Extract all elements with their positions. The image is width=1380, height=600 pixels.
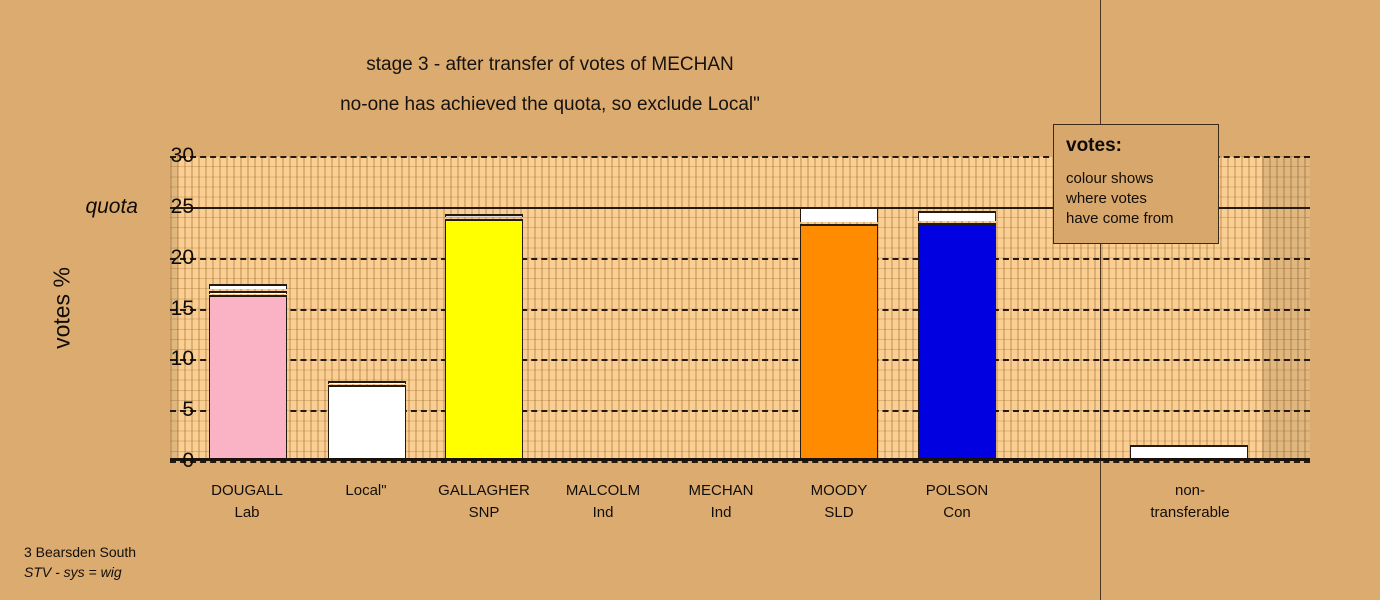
footer: 3 Bearsden South STV - sys = wig bbox=[24, 542, 136, 582]
x-label-name: MOODY bbox=[811, 482, 868, 499]
quota-label: quota bbox=[85, 195, 138, 219]
footer-system: STV - sys = wig bbox=[24, 562, 136, 582]
gridline-15 bbox=[170, 309, 1310, 311]
bar-segment-dougall-2 bbox=[209, 284, 287, 289]
x-label-name: MECHAN bbox=[688, 482, 753, 499]
x-label-dougall: DOUGALLLab bbox=[211, 480, 283, 524]
x-label-party: Lab bbox=[211, 502, 283, 524]
x-label-local: Local" bbox=[345, 480, 386, 524]
gridline-20 bbox=[170, 258, 1310, 260]
footer-constituency: 3 Bearsden South bbox=[24, 542, 136, 562]
gridline-0 bbox=[170, 461, 1310, 463]
x-label-party: Con bbox=[926, 502, 989, 524]
bar-segment-polson-0 bbox=[918, 223, 996, 461]
x-label-party: Ind bbox=[688, 502, 753, 524]
bar-segment-moody-0 bbox=[800, 224, 878, 461]
x-label-party: transferable bbox=[1150, 502, 1229, 524]
x-label-moody: MOODYSLD bbox=[811, 480, 868, 524]
x-label-gallagher: GALLAGHERSNP bbox=[438, 480, 530, 524]
bar-segment-local-0 bbox=[328, 385, 406, 461]
x-label-party bbox=[345, 502, 386, 524]
bar-segment-local-1 bbox=[328, 381, 406, 384]
x-label-name: DOUGALL bbox=[211, 482, 283, 499]
bar-segment-gallagher-1 bbox=[445, 214, 523, 217]
bar-segment-polson-1 bbox=[918, 211, 996, 221]
legend-title: votes: bbox=[1066, 135, 1206, 157]
y-tick-0: 0 bbox=[134, 449, 194, 473]
x-label-name: MALCOLM bbox=[566, 482, 640, 499]
gridline-10 bbox=[170, 359, 1310, 361]
y-tick-30: 30 bbox=[134, 144, 194, 168]
legend-line-3: have come from bbox=[1066, 209, 1206, 229]
y-tick-10: 10 bbox=[134, 347, 194, 371]
y-tick-20: 20 bbox=[134, 246, 194, 270]
legend-line-1: colour shows bbox=[1066, 169, 1206, 189]
bar-segment-moody-1 bbox=[800, 207, 878, 222]
y-tick-15: 15 bbox=[134, 297, 194, 321]
x-label-name: POLSON bbox=[926, 482, 989, 499]
x-axis-line bbox=[170, 458, 1310, 461]
chart-subtitle: no-one has achieved the quota, so exclud… bbox=[0, 94, 1100, 116]
x-label-mechan: MECHANInd bbox=[688, 480, 753, 524]
x-label-party: SNP bbox=[438, 502, 530, 524]
y-axis-label: votes % bbox=[49, 267, 76, 349]
legend-box: votes: colour shows where votes have com… bbox=[1053, 124, 1219, 244]
x-label-party: Ind bbox=[566, 502, 640, 524]
legend-line-2: where votes bbox=[1066, 189, 1206, 209]
bar-segment-dougall-1 bbox=[209, 291, 287, 294]
x-label-polson: POLSONCon bbox=[926, 480, 989, 524]
bar-segment-gallagher-0 bbox=[445, 219, 523, 461]
chart-canvas: stage 3 - after transfer of votes of MEC… bbox=[0, 0, 1380, 600]
x-label-nontransferable: non-transferable bbox=[1150, 480, 1229, 524]
y-tick-5: 5 bbox=[134, 398, 194, 422]
x-label-name: non- bbox=[1175, 482, 1205, 499]
chart-title: stage 3 - after transfer of votes of MEC… bbox=[0, 54, 1100, 76]
bar-segment-dougall-0 bbox=[209, 295, 287, 461]
x-label-name: Local" bbox=[345, 482, 386, 499]
x-label-name: GALLAGHER bbox=[438, 482, 530, 499]
y-tick-25: 25 bbox=[134, 195, 194, 219]
x-label-malcolm: MALCOLMInd bbox=[566, 480, 640, 524]
x-label-party: SLD bbox=[811, 502, 868, 524]
